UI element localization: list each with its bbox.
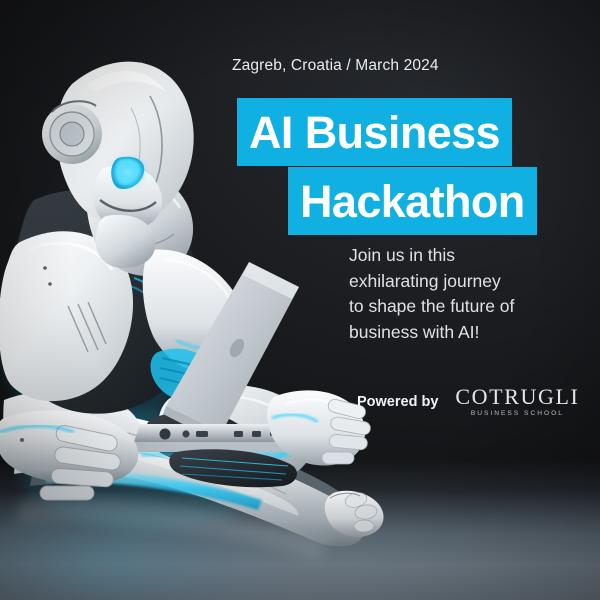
poster-content: Zagreb, Croatia / March 2024 AI Business…: [0, 0, 600, 600]
page-title: AI Business Hackathon: [0, 98, 600, 235]
headline-line-1: AI Business: [237, 98, 512, 166]
blurb-line-4: business with AI!: [349, 320, 569, 346]
cotrugli-logo: COTRUGLI BUSINESS SCHOOL: [455, 386, 579, 418]
headline-line-2: Hackathon: [288, 167, 537, 235]
headline-row-2: Hackathon: [0, 167, 600, 235]
blurb-line-3: to shape the future of: [349, 294, 569, 320]
event-description: Join us in this exhilarating journey to …: [349, 243, 569, 346]
powered-by-section: Powered by COTRUGLI BUSINESS SCHOOL: [357, 386, 579, 418]
powered-by-label: Powered by: [357, 394, 438, 410]
blurb-line-1: Join us in this: [349, 243, 569, 269]
headline-row-1: AI Business: [0, 98, 600, 166]
event-location-date: Zagreb, Croatia / March 2024: [232, 57, 439, 75]
poster-canvas: Zagreb, Croatia / March 2024 AI Business…: [0, 0, 600, 600]
blurb-line-2: exhilarating journey: [349, 269, 569, 295]
logo-wordmark: COTRUGLI: [455, 386, 579, 408]
logo-tagline: BUSINESS SCHOOL: [471, 411, 564, 418]
